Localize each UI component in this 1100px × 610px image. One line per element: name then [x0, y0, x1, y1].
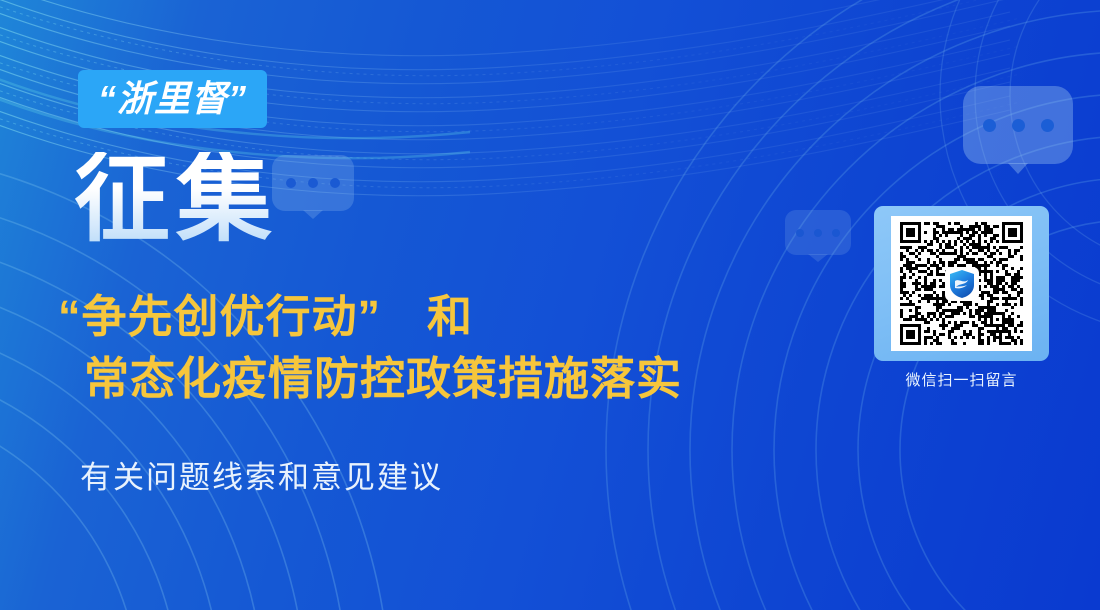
- shield-icon: [945, 267, 979, 301]
- headline-line-1: “争先创优行动” 和: [58, 286, 858, 348]
- qr-code-caption: 微信扫一扫留言: [874, 369, 1049, 390]
- bubble-tail: [1008, 163, 1028, 174]
- bubble-dots: [791, 229, 845, 237]
- bubble-dots: [280, 178, 346, 188]
- headline-line-2: 常态化疫情防控政策措施落实: [58, 348, 858, 410]
- qr-code-surface: [891, 216, 1032, 351]
- speech-bubble-icon: [785, 210, 851, 255]
- bubble-tail: [303, 210, 323, 219]
- speech-bubble-icon: [272, 155, 354, 211]
- speech-bubble-icon: [963, 86, 1073, 164]
- page-title: 征集: [74, 152, 278, 248]
- bubble-dots: [975, 119, 1062, 132]
- headline: “争先创优行动” 和 常态化疫情防控政策措施落实: [58, 286, 858, 410]
- campaign-banner: “浙里督” 征集 “争先创优行动” 和 常态化疫情防控政策措施落实 有关问题线索…: [0, 0, 1100, 610]
- program-badge[interactable]: “浙里督”: [78, 70, 267, 128]
- bubble-tail: [808, 254, 828, 262]
- program-badge-label: “浙里督”: [98, 81, 247, 117]
- subtitle: 有关问题线索和意见建议: [80, 452, 443, 497]
- qr-code-panel[interactable]: [874, 206, 1049, 361]
